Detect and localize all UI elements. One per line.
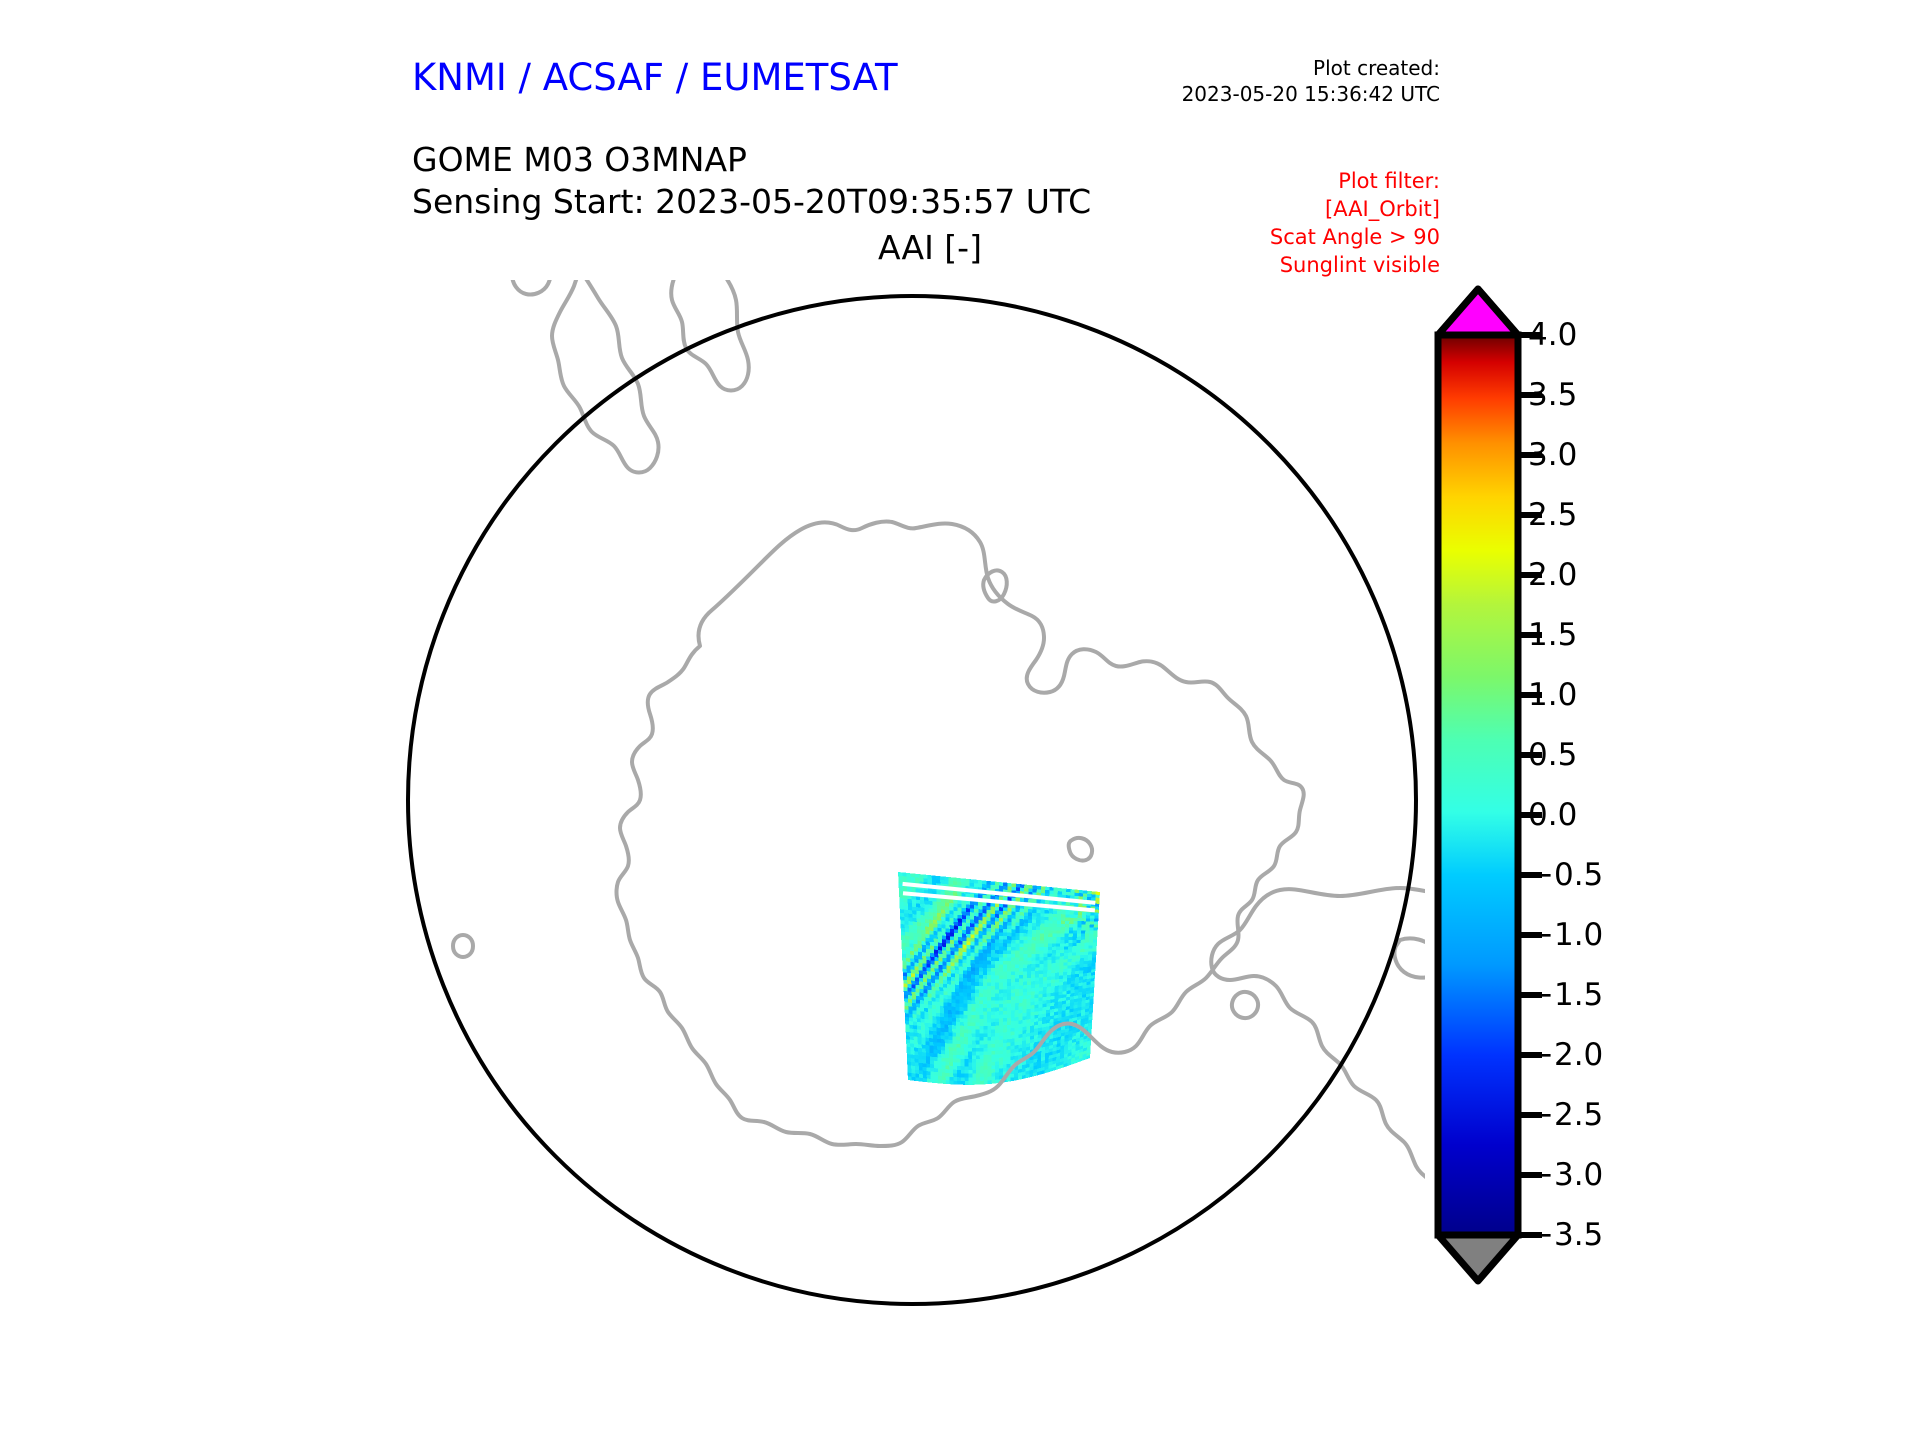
swath-pixel [931, 975, 935, 979]
swath-pixel [1066, 994, 1070, 998]
swath-pixel [991, 1047, 995, 1051]
swath-pixel [960, 1018, 964, 1022]
swath-pixel [898, 879, 902, 883]
swath-pixel [945, 903, 949, 907]
swath-pixel [961, 1074, 965, 1078]
swath-pixel [1073, 937, 1077, 940]
swath-pixel [1027, 1002, 1031, 1006]
swath-pixel [983, 1004, 987, 1008]
swath-pixel [991, 975, 995, 979]
swath-pixel [929, 920, 933, 924]
swath-pixel [995, 925, 999, 929]
swath-pixel [995, 1072, 999, 1076]
swath-pixel [1046, 1003, 1050, 1007]
swath-pixel [967, 1008, 971, 1012]
swath-pixel [914, 944, 918, 948]
swath-pixel [1042, 1007, 1046, 1011]
swath-pixel [947, 980, 951, 984]
swath-pixel [920, 996, 924, 1000]
swath-pixel [1082, 985, 1086, 989]
swath-pixel [942, 958, 946, 962]
swath-pixel [979, 1026, 983, 1030]
swath-pixel [925, 1034, 929, 1038]
swath-pixel [991, 1019, 995, 1023]
swath-pixel [999, 1004, 1003, 1008]
swath-pixel [929, 1023, 933, 1027]
swath-pixel [1061, 911, 1065, 914]
swath-pixel [916, 1007, 920, 1011]
swath-pixel [952, 1036, 956, 1040]
swath-pixel [1080, 961, 1084, 964]
swath-pixel [958, 907, 962, 911]
swath-pixel [923, 971, 927, 975]
swath-pixel [950, 933, 954, 937]
swath-pixel [913, 1010, 917, 1014]
swath-pixel [955, 970, 959, 974]
swath-pixel [903, 976, 907, 980]
swath-pixel [945, 899, 949, 903]
swath-pixel [1053, 914, 1057, 918]
swath-pixel [958, 930, 962, 934]
swath-pixel [964, 1041, 968, 1045]
swath-pixel [1043, 984, 1047, 988]
swath-pixel [976, 1070, 980, 1074]
colorbar-tick-label: 2.5 [1528, 497, 1577, 533]
swath-pixel [929, 927, 933, 931]
swath-pixel [929, 1038, 933, 1042]
swath-pixel [975, 978, 979, 982]
swath-pixel [1022, 1030, 1026, 1034]
swath-pixel [1068, 946, 1072, 949]
swath-pixel [1081, 931, 1085, 934]
swath-pixel [934, 961, 938, 965]
swath-pixel [1019, 982, 1023, 986]
swath-pixel [995, 1008, 999, 1012]
swath-pixel [943, 980, 947, 984]
swath-pixel [1011, 1028, 1015, 1032]
swath-pixel [972, 1019, 976, 1023]
swath-pixel [942, 1065, 946, 1069]
swath-pixel [955, 981, 959, 985]
swath-pixel [937, 902, 941, 906]
swath-pixel [947, 973, 951, 977]
swath-pixel [950, 947, 954, 951]
swath-pixel [938, 1076, 942, 1080]
swath-pixel [1023, 995, 1027, 999]
swath-pixel [988, 1080, 992, 1084]
swath-pixel [1084, 964, 1088, 967]
swath-pixel [999, 997, 1003, 1001]
swath-pixel [921, 1026, 925, 1030]
swath-pixel [954, 951, 958, 955]
swath-pixel [961, 882, 965, 886]
swath-pixel [983, 968, 987, 972]
swath-pixel [979, 997, 983, 1001]
swath-pixel [899, 891, 903, 895]
swath-pixel [1011, 1010, 1015, 1014]
swath-pixel [1033, 885, 1037, 889]
swath-pixel [949, 1047, 953, 1051]
swath-pixel [995, 986, 999, 990]
swath-pixel [1014, 1077, 1018, 1081]
swath-pixel [970, 931, 974, 935]
swath-pixel [910, 1047, 914, 1051]
swath-pixel [914, 1040, 918, 1044]
swath-pixel [1007, 1053, 1011, 1057]
swath-pixel [965, 1066, 969, 1070]
swath-pixel [1032, 933, 1036, 936]
swath-pixel [1073, 924, 1077, 927]
swath-pixel [991, 968, 995, 972]
swath-pixel [984, 1062, 988, 1066]
swath-pixel [978, 880, 982, 884]
swath-pixel [1088, 961, 1092, 964]
swath-pixel [942, 928, 946, 932]
swath-pixel [1007, 1014, 1011, 1018]
swath-pixel [918, 1059, 922, 1063]
swath-pixel [987, 1033, 991, 1037]
swath-pixel [958, 941, 962, 945]
swath-pixel [909, 929, 913, 933]
swath-pixel [971, 1011, 975, 1015]
swath-pixel [903, 972, 907, 976]
swath-pixel [944, 1013, 948, 1017]
swath-pixel [1043, 967, 1047, 971]
swath-pixel [974, 920, 978, 924]
swath-pixel [1034, 1011, 1038, 1015]
swath-pixel [919, 878, 923, 882]
swath-pixel [1030, 1025, 1034, 1029]
swath-pixel [911, 1055, 915, 1059]
swath-pixel [1064, 946, 1068, 949]
swath-pixel [1015, 929, 1019, 933]
swath-pixel [1028, 940, 1032, 944]
swath-pixel [1047, 983, 1051, 987]
swath-pixel [971, 975, 975, 979]
swath-pixel [991, 990, 995, 994]
swath-pixel [1094, 922, 1098, 925]
swath-pixel [1003, 1007, 1007, 1011]
swath-pixel [1045, 887, 1049, 891]
swath-pixel [995, 896, 999, 900]
swath-pixel [926, 960, 930, 964]
swath-pixel [930, 946, 934, 950]
swath-pixel [904, 1006, 908, 1010]
swath-pixel [968, 1026, 972, 1030]
swath-pixel [925, 934, 929, 938]
swath-pixel [1035, 971, 1039, 975]
swath-pixel [1014, 1070, 1018, 1074]
swath-pixel [1036, 916, 1040, 920]
swath-pixel [995, 921, 999, 925]
swath-pixel [1051, 963, 1055, 967]
swath-pixel [1024, 933, 1028, 937]
swath-pixel [974, 927, 978, 931]
swath-pixel [1063, 975, 1067, 979]
swath-pixel [1095, 901, 1099, 904]
swath-pixel [987, 961, 991, 965]
swath-pixel [959, 989, 963, 993]
swath-pixel [934, 957, 938, 961]
swath-pixel [964, 1048, 968, 1052]
swath-pixel [991, 993, 995, 997]
swath-pixel [919, 1074, 923, 1078]
swath-pixel [1003, 1043, 1007, 1047]
swath-pixel [983, 931, 987, 935]
swath-pixel [950, 940, 954, 944]
swath-pixel [931, 964, 935, 968]
swath-pixel [928, 1005, 932, 1009]
swath-pixel [968, 1015, 972, 1019]
swath-pixel [1035, 967, 1039, 971]
swath-pixel [1007, 911, 1011, 915]
swath-pixel [999, 983, 1003, 987]
swath-pixel [999, 990, 1003, 994]
swath-pixel [991, 1004, 995, 1008]
swath-pixel [916, 907, 920, 911]
swath-pixel [983, 971, 987, 975]
swath-pixel [1055, 973, 1059, 977]
antarctic-peninsula-detail [983, 570, 1007, 601]
swath-pixel [991, 1062, 995, 1066]
swath-pixel [995, 1054, 999, 1058]
swath-pixel [937, 924, 941, 928]
swath-pixel [980, 1059, 984, 1063]
swath-pixel [1007, 982, 1011, 986]
swath-pixel [921, 1030, 925, 1034]
swath-pixel [956, 1003, 960, 1007]
swath-pixel [983, 990, 987, 994]
swath-pixel [921, 1037, 925, 1041]
swath-pixel [929, 1031, 933, 1035]
swath-pixel [1035, 974, 1039, 978]
swath-pixel [1049, 887, 1053, 891]
swath-pixel [1076, 943, 1080, 946]
swath-pixel [1090, 928, 1094, 931]
swath-pixel [904, 902, 908, 906]
swath-pixel [962, 923, 966, 927]
swath-pixel [1056, 937, 1060, 940]
swath-pixel [1090, 912, 1094, 915]
swath-pixel [901, 935, 905, 939]
swath-pixel [1067, 987, 1071, 991]
swath-pixel [991, 954, 995, 958]
swath-pixel [999, 979, 1003, 983]
swath-pixel [972, 1059, 976, 1063]
swath-pixel [1003, 961, 1007, 965]
swath-pixel [940, 1024, 944, 1028]
swath-pixel [954, 926, 958, 930]
swath-pixel [979, 1022, 983, 1026]
swath-pixel [903, 969, 907, 973]
swath-pixel [1090, 921, 1094, 924]
swath-pixel [951, 977, 955, 981]
swath-pixel [913, 1018, 917, 1022]
swath-pixel [1026, 1047, 1030, 1051]
swath-pixel [965, 1077, 969, 1081]
swath-pixel [1038, 1034, 1042, 1038]
new-zealand-north [671, 280, 749, 391]
swath-pixel [976, 1066, 980, 1070]
swath-pixel [925, 908, 929, 912]
swath-pixel [1049, 910, 1053, 914]
swath-pixel [912, 1077, 916, 1081]
swath-pixel [1042, 1024, 1046, 1028]
swath-pixel [970, 934, 974, 938]
swath-pixel [1015, 1035, 1019, 1039]
swath-pixel [991, 885, 995, 889]
swath-pixel [927, 964, 931, 968]
swath-pixel [1026, 1040, 1030, 1044]
swath-pixel [1052, 950, 1056, 953]
swath-pixel [979, 1019, 983, 1023]
swath-pixel [1064, 937, 1068, 940]
swath-pixel [924, 1008, 928, 1012]
swath-pixel [1040, 937, 1044, 940]
swath-pixel [975, 986, 979, 990]
swath-pixel [946, 940, 950, 944]
swath-pixel [930, 1064, 934, 1068]
swath-pixel [1011, 1035, 1015, 1039]
swath-pixel [1024, 923, 1028, 927]
colorbar-tick-label: 3.0 [1528, 437, 1577, 473]
swath-pixel [995, 975, 999, 979]
swath-pixel [899, 887, 903, 891]
swath-pixel [1007, 1004, 1011, 1008]
swath-pixel [930, 960, 934, 964]
swath-pixel [976, 1041, 980, 1045]
swath-pixel [988, 1059, 992, 1063]
swath-pixel [1044, 944, 1048, 947]
swath-pixel [1075, 965, 1079, 969]
swath-pixel [1040, 927, 1044, 931]
swath-pixel [1077, 934, 1081, 937]
swath-pixel [1024, 919, 1028, 923]
swath-pixel [931, 990, 935, 994]
swath-pixel [958, 952, 962, 956]
swath-pixel [979, 982, 983, 986]
swath-pixel [936, 880, 940, 884]
swath-pixel [1082, 918, 1086, 921]
swath-pixel [971, 989, 975, 993]
swath-pixel [978, 924, 982, 928]
swath-pixel [1022, 1023, 1026, 1027]
swath-pixel [910, 958, 914, 962]
swath-pixel [971, 964, 975, 968]
swath-pixel [1083, 890, 1087, 894]
swath-pixel [903, 965, 907, 969]
swath-pixel [937, 917, 941, 921]
swath-pixel [995, 965, 999, 969]
swath-pixel [1056, 934, 1060, 937]
swath-pixel [987, 1011, 991, 1015]
swath-pixel [943, 973, 947, 977]
swath-pixel [1031, 957, 1035, 961]
swath-pixel [934, 946, 938, 950]
swath-pixel [938, 946, 942, 950]
swath-pixel [984, 1081, 988, 1085]
swath-pixel [1015, 968, 1019, 972]
swath-pixel [991, 896, 995, 900]
swath-pixel [1049, 890, 1053, 894]
swath-pixel [987, 982, 991, 986]
swath-pixel [928, 1001, 932, 1005]
swath-pixel [999, 914, 1003, 918]
swath-pixel [914, 962, 918, 966]
swath-pixel [1050, 1002, 1054, 1006]
swath-pixel [901, 924, 905, 928]
swath-pixel [1061, 921, 1065, 924]
swath-pixel [1024, 926, 1028, 930]
swath-pixel [979, 1004, 983, 1008]
swath-pixel [922, 948, 926, 952]
swath-pixel [995, 1029, 999, 1033]
swath-pixel [995, 1018, 999, 1022]
swath-pixel [999, 1050, 1003, 1054]
swath-pixel [917, 937, 921, 941]
swath-pixel [911, 1069, 915, 1073]
swath-pixel [941, 1058, 945, 1062]
swath-pixel [939, 965, 943, 969]
swath-pixel [931, 968, 935, 972]
swath-pixel [907, 969, 911, 973]
swath-pixel [1078, 986, 1082, 990]
swath-pixel [1003, 1046, 1007, 1050]
swath-pixel [1055, 976, 1059, 980]
swath-pixel [980, 1037, 984, 1041]
swath-pixel [941, 917, 945, 921]
swath-pixel [983, 917, 987, 921]
swath-pixel [999, 896, 1003, 900]
swath-pixel [999, 1036, 1003, 1040]
swath-pixel [979, 968, 983, 972]
swath-pixel [933, 920, 937, 924]
swath-pixel [1010, 1074, 1014, 1078]
swath-pixel [999, 975, 1003, 979]
swath-pixel [995, 932, 999, 936]
swath-pixel [1022, 1040, 1026, 1044]
swath-pixel [1023, 1009, 1027, 1013]
swath-pixel [948, 1010, 952, 1014]
swath-pixel [954, 914, 958, 918]
swath-pixel [987, 964, 991, 968]
swath-pixel [991, 1037, 995, 1041]
swath-pixel [952, 1003, 956, 1007]
swath-pixel [1062, 888, 1066, 892]
swath-pixel [946, 921, 950, 925]
swath-pixel [1049, 900, 1053, 904]
swath-pixel [959, 981, 963, 985]
swath-pixel [934, 1064, 938, 1068]
swath-pixel [1027, 961, 1031, 965]
swath-pixel [942, 936, 946, 940]
swath-pixel [930, 934, 934, 938]
swath-pixel [945, 1065, 949, 1069]
swath-pixel [915, 974, 919, 978]
swath-pixel [941, 1050, 945, 1054]
swath-pixel [1043, 987, 1047, 991]
swath-pixel [964, 1044, 968, 1048]
swath-pixel [904, 991, 908, 995]
swath-pixel [913, 1022, 917, 1026]
swath-pixel [1007, 989, 1011, 993]
swath-pixel [975, 997, 979, 1001]
swath-pixel [1027, 957, 1031, 961]
swath-pixel [1084, 961, 1088, 964]
swath-pixel [940, 876, 944, 880]
swath-pixel [1068, 959, 1072, 962]
swath-pixel [929, 931, 933, 935]
